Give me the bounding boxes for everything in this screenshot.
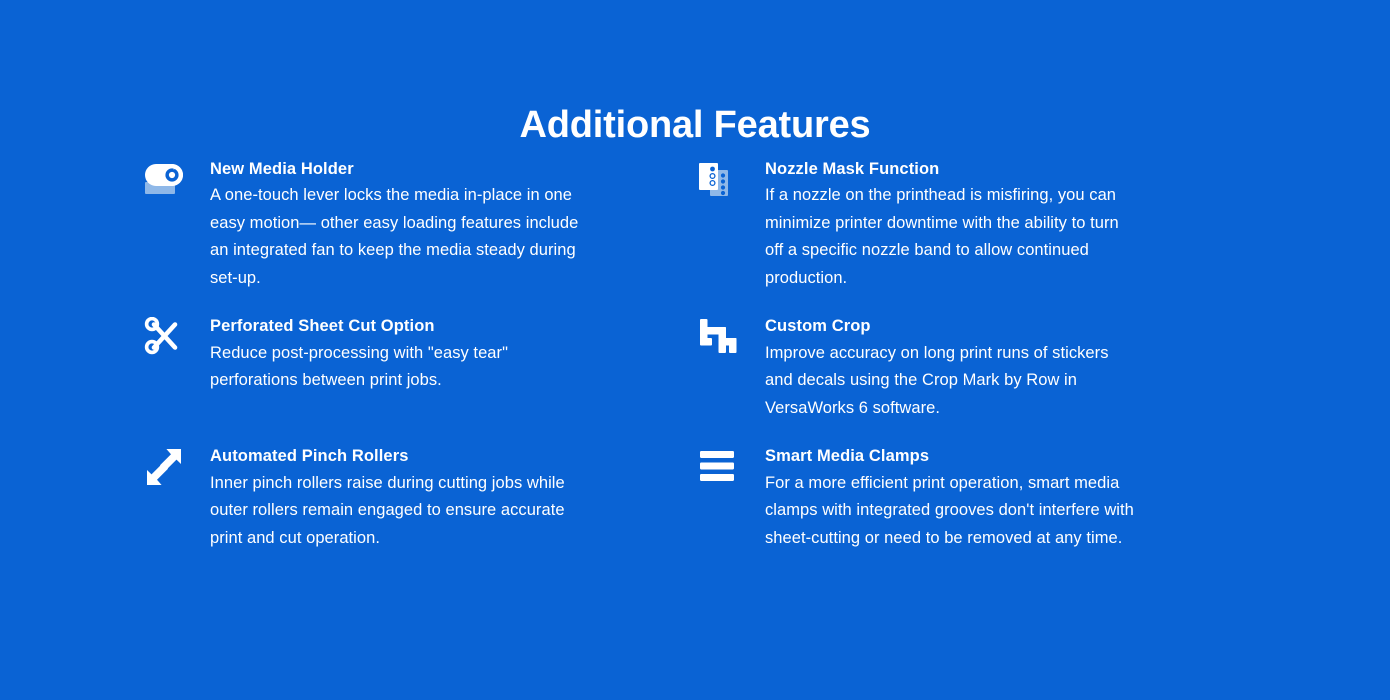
feature-text: Custom Crop Improve accuracy on long pri… xyxy=(765,315,1140,422)
feature-title: Smart Media Clamps xyxy=(765,445,1140,467)
feature-description: For a more efficient print operation, sm… xyxy=(765,470,1140,553)
feature-item-perforated-sheet-cut-option: Perforated Sheet Cut Option Reduce post-… xyxy=(140,315,667,422)
features-grid: New Media Holder A one-touch lever locks… xyxy=(140,158,1250,552)
crop-icon xyxy=(695,317,743,365)
feature-item-automated-pinch-rollers: Automated Pinch Rollers Inner pinch roll… xyxy=(140,445,667,552)
feature-title: New Media Holder xyxy=(210,158,580,180)
feature-title: Perforated Sheet Cut Option xyxy=(210,315,580,337)
page-title: Additional Features xyxy=(0,103,1390,149)
feature-description: If a nozzle on the printhead is misfirin… xyxy=(765,182,1140,292)
feature-item-smart-media-clamps: Smart Media Clamps For a more efficient … xyxy=(695,445,1222,552)
media-clamps-icon xyxy=(695,447,743,495)
feature-text: Automated Pinch Rollers Inner pinch roll… xyxy=(210,445,580,552)
compress-arrows-icon xyxy=(140,447,188,495)
nozzle-mask-icon xyxy=(695,160,743,208)
additional-features-section: Additional Features New Media Holder A o… xyxy=(0,0,1390,700)
feature-description: Inner pinch rollers raise during cutting… xyxy=(210,470,580,553)
feature-description: A one-touch lever locks the media in-pla… xyxy=(210,182,580,292)
feature-text: Smart Media Clamps For a more efficient … xyxy=(765,445,1140,552)
feature-item-new-media-holder: New Media Holder A one-touch lever locks… xyxy=(140,158,667,292)
feature-title: Automated Pinch Rollers xyxy=(210,445,580,467)
feature-description: Reduce post-processing with "easy tear" … xyxy=(210,340,580,395)
feature-text: Perforated Sheet Cut Option Reduce post-… xyxy=(210,315,580,394)
feature-text: Nozzle Mask Function If a nozzle on the … xyxy=(765,158,1140,292)
feature-title: Custom Crop xyxy=(765,315,1140,337)
feature-title: Nozzle Mask Function xyxy=(765,158,1140,180)
feature-item-nozzle-mask-function: Nozzle Mask Function If a nozzle on the … xyxy=(695,158,1222,292)
scissors-icon xyxy=(140,317,188,365)
feature-item-custom-crop: Custom Crop Improve accuracy on long pri… xyxy=(695,315,1222,422)
feature-text: New Media Holder A one-touch lever locks… xyxy=(210,158,580,292)
media-roll-icon xyxy=(140,160,188,208)
feature-description: Improve accuracy on long print runs of s… xyxy=(765,340,1140,423)
